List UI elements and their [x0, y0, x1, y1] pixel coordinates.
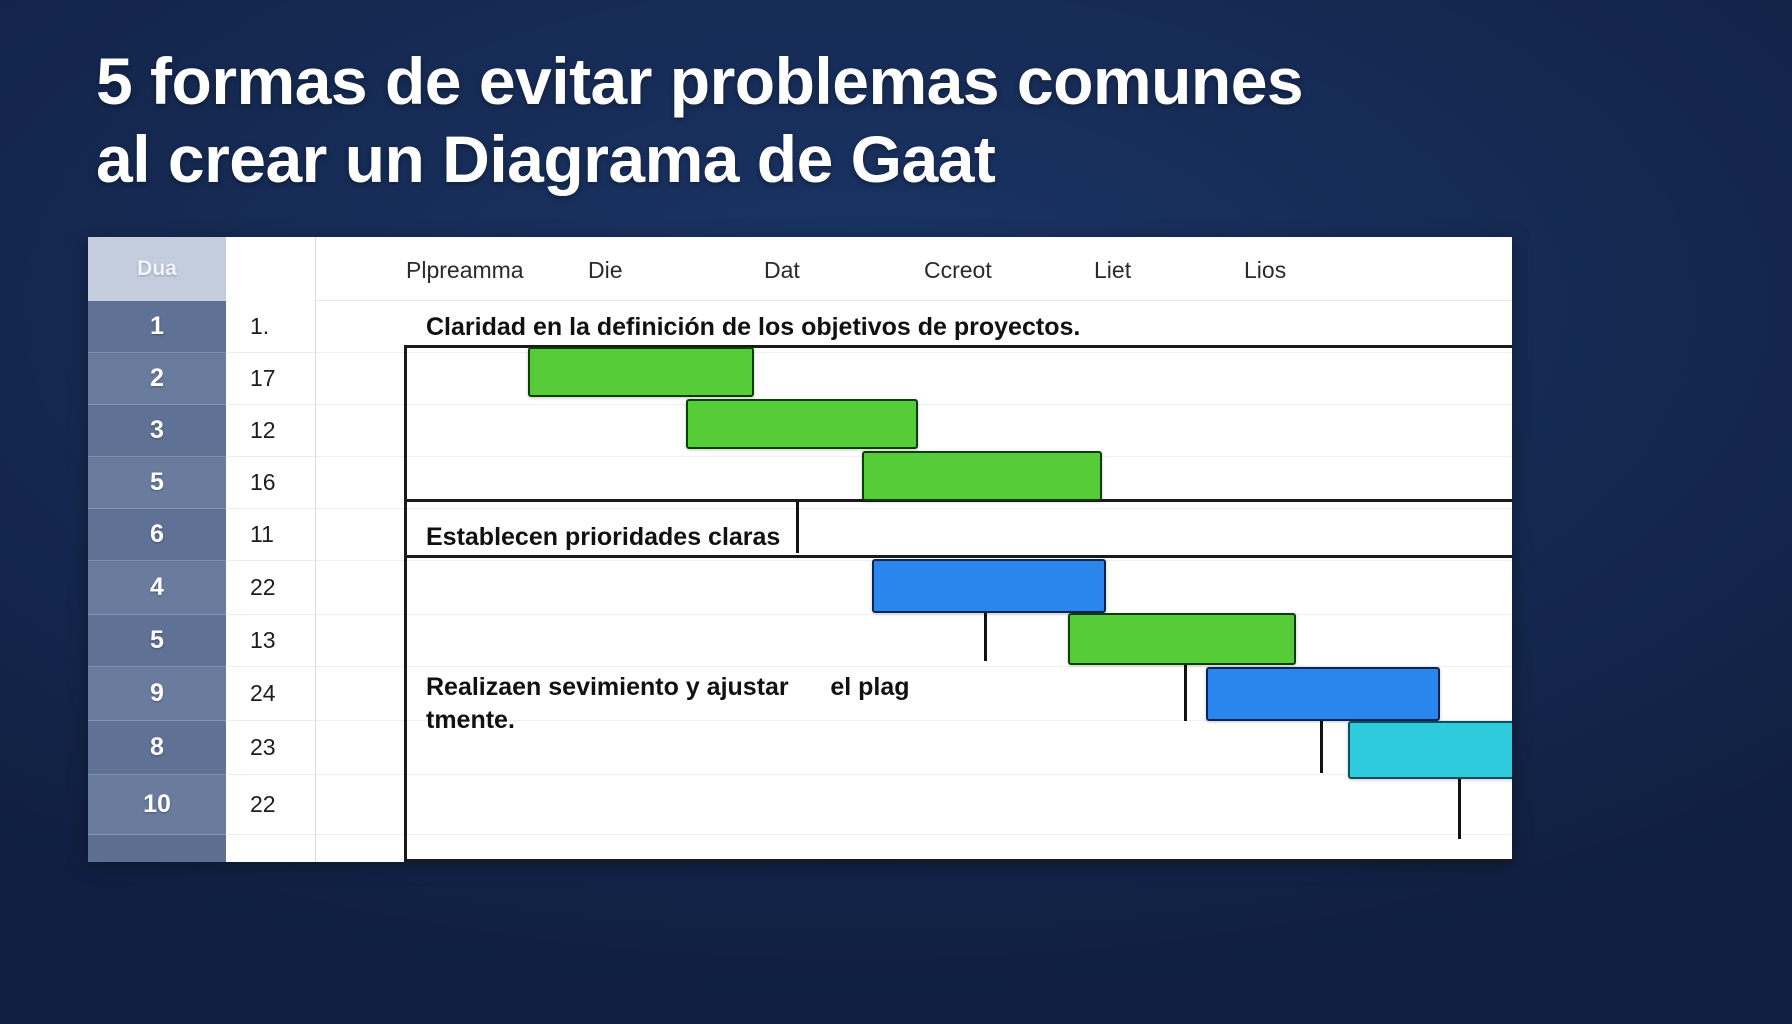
- row-number-cell: 12: [226, 405, 315, 457]
- dependency-connector: [984, 613, 987, 661]
- number-cell-list: 1.171216112213242322: [226, 301, 315, 835]
- gantt-table-panel: Dua 12356459810 1.171216112213242322 Plp…: [88, 237, 1512, 862]
- row-number-cell: 23: [226, 721, 315, 775]
- column-header[interactable]: Die: [588, 257, 623, 284]
- gantt-bar[interactable]: [686, 399, 918, 449]
- title-line-1: 5 formas de evitar problemas comunes: [96, 42, 1716, 120]
- row-number-cell: 22: [226, 775, 315, 835]
- task-label: Establecen prioridades claras: [426, 521, 780, 554]
- dependency-connector: [1458, 779, 1461, 839]
- row-number-cell: 1.: [226, 301, 315, 353]
- gantt-bar[interactable]: [1206, 667, 1440, 721]
- row-index-cell: 2: [88, 353, 226, 405]
- row-index-cell: 4: [88, 561, 226, 615]
- gantt-frame-mid-rule-2: [404, 555, 1512, 558]
- column-header[interactable]: Dat: [764, 257, 800, 284]
- dependency-connector: [1184, 665, 1187, 721]
- task-label: Claridad en la definición de los objetiv…: [426, 311, 1080, 344]
- task-label: Realizaen sevimiento y ajustar el plag t…: [426, 671, 910, 737]
- row-number-cell: 13: [226, 615, 315, 667]
- gantt-grid-body[interactable]: Claridad en la definición de los objetiv…: [316, 301, 1512, 862]
- row-number-cell: 11: [226, 509, 315, 561]
- number-column-header: [226, 237, 315, 301]
- row-number-cell: 17: [226, 353, 315, 405]
- column-header[interactable]: Ccreot: [924, 257, 992, 284]
- gantt-bar[interactable]: [1348, 721, 1512, 779]
- row-index-cell: 1: [88, 301, 226, 353]
- gantt-bar[interactable]: [528, 347, 754, 397]
- row-index-cell: 6: [88, 509, 226, 561]
- title-line-2: al crear un Diagrama de Gaat: [96, 120, 1716, 198]
- number-column: 1.171216112213242322: [226, 237, 316, 862]
- column-header[interactable]: Plpreamma: [406, 257, 524, 284]
- column-header[interactable]: Liet: [1094, 257, 1131, 284]
- gantt-frame-bottom-rule: [404, 859, 1512, 862]
- row-index-cell: 8: [88, 721, 226, 775]
- column-header[interactable]: Lios: [1244, 257, 1286, 284]
- grid-row: [316, 353, 1512, 405]
- dependency-connector: [796, 501, 799, 553]
- gantt-bar[interactable]: [872, 559, 1106, 613]
- row-index-cell: 9: [88, 667, 226, 721]
- grid-row: [316, 615, 1512, 667]
- row-number-cell: 16: [226, 457, 315, 509]
- column-header-row: PlpreammaDieDatCcreotLietLios: [316, 237, 1512, 301]
- gantt-bar[interactable]: [1068, 613, 1296, 665]
- row-index-cell: 10: [88, 775, 226, 835]
- index-column-header: Dua: [88, 237, 226, 301]
- index-cell-list: 12356459810: [88, 301, 226, 835]
- row-index-cell: 5: [88, 457, 226, 509]
- gantt-grid-area: PlpreammaDieDatCcreotLietLios Claridad e…: [316, 237, 1512, 862]
- gantt-bar[interactable]: [862, 451, 1102, 501]
- row-index-cell: 5: [88, 615, 226, 667]
- row-index-column: Dua 12356459810: [88, 237, 226, 862]
- grid-row: [316, 775, 1512, 835]
- row-number-cell: 24: [226, 667, 315, 721]
- page-title: 5 formas de evitar problemas comunes al …: [96, 42, 1716, 198]
- dependency-connector: [1320, 721, 1323, 773]
- row-number-cell: 22: [226, 561, 315, 615]
- gantt-frame-left-rule: [404, 345, 407, 861]
- row-index-cell: 3: [88, 405, 226, 457]
